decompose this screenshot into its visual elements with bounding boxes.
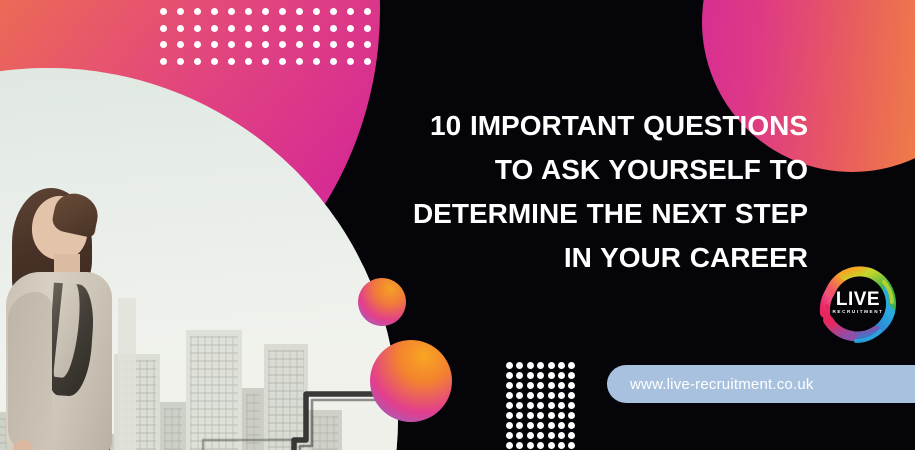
small-gradient-bubble xyxy=(358,278,406,326)
grid-dot xyxy=(527,412,534,419)
grid-dot xyxy=(558,422,565,429)
grid-dot xyxy=(558,392,565,399)
grid-dot xyxy=(527,372,534,379)
logo-wordmark: LIVE xyxy=(812,290,904,309)
grid-dot xyxy=(558,362,565,369)
grid-dot xyxy=(516,422,523,429)
businesswoman-figure xyxy=(0,196,178,450)
grid-dot xyxy=(537,412,544,419)
grid-dot xyxy=(245,8,252,15)
grid-dot xyxy=(516,362,523,369)
grid-dot xyxy=(347,58,354,65)
grid-dot xyxy=(347,25,354,32)
grid-dot xyxy=(211,58,218,65)
grid-dot xyxy=(364,41,371,48)
grid-dot xyxy=(506,422,513,429)
grid-dot xyxy=(527,422,534,429)
grid-dot xyxy=(548,392,555,399)
grid-dot xyxy=(160,58,167,65)
grid-dot xyxy=(296,58,303,65)
grid-dot xyxy=(516,442,523,449)
grid-dot xyxy=(177,58,184,65)
grid-dot xyxy=(548,432,555,439)
banner-canvas: 10 IMPORTANT QUESTIONSTO ASK YOURSELF TO… xyxy=(0,0,915,450)
grid-dot xyxy=(537,422,544,429)
grid-dot xyxy=(568,372,575,379)
grid-dot xyxy=(537,432,544,439)
grid-dot xyxy=(506,382,513,389)
grid-dot xyxy=(177,41,184,48)
grid-dot xyxy=(506,362,513,369)
grid-dot xyxy=(558,412,565,419)
grid-dot xyxy=(506,402,513,409)
grid-dot xyxy=(527,392,534,399)
grid-dot xyxy=(313,8,320,15)
logo-subtitle: RECRUITMENT xyxy=(812,309,904,315)
grid-dot xyxy=(527,362,534,369)
grid-dot xyxy=(296,41,303,48)
grid-dot xyxy=(177,25,184,32)
grid-dot xyxy=(245,25,252,32)
grid-dot xyxy=(537,382,544,389)
grid-dot xyxy=(506,432,513,439)
grid-dot xyxy=(558,432,565,439)
headline-line-3: DETERMINE THE NEXT STEP xyxy=(330,192,808,236)
grid-dot xyxy=(558,442,565,449)
grid-dot xyxy=(548,442,555,449)
grid-dot xyxy=(262,41,269,48)
website-url-text: www.live-recruitment.co.uk xyxy=(630,376,814,393)
grid-dot xyxy=(279,8,286,15)
grid-dot xyxy=(527,442,534,449)
grid-dot xyxy=(330,8,337,15)
grid-dot xyxy=(194,58,201,65)
website-url-pill[interactable]: www.live-recruitment.co.uk xyxy=(607,365,915,403)
grid-dot xyxy=(516,432,523,439)
grid-dot xyxy=(262,8,269,15)
grid-dot xyxy=(211,41,218,48)
grid-dot xyxy=(211,8,218,15)
grid-dot xyxy=(537,442,544,449)
grid-dot xyxy=(330,25,337,32)
grid-dot xyxy=(568,412,575,419)
grid-dot xyxy=(548,422,555,429)
grid-dot xyxy=(537,362,544,369)
grid-dot xyxy=(548,412,555,419)
grid-dot xyxy=(568,392,575,399)
grid-dot xyxy=(160,41,167,48)
grid-dot xyxy=(177,8,184,15)
grid-dot xyxy=(568,402,575,409)
grid-dot xyxy=(211,25,218,32)
grid-dot xyxy=(245,58,252,65)
grid-dot xyxy=(296,25,303,32)
grid-dot xyxy=(364,25,371,32)
grid-dot xyxy=(262,58,269,65)
grid-dot xyxy=(568,432,575,439)
grid-dot xyxy=(548,382,555,389)
grid-dot xyxy=(330,58,337,65)
grid-dot xyxy=(548,402,555,409)
grid-dot xyxy=(160,8,167,15)
headline-line-2: TO ASK YOURSELF TO xyxy=(330,148,808,192)
grid-dot xyxy=(228,8,235,15)
grid-dot xyxy=(516,382,523,389)
grid-dot xyxy=(558,372,565,379)
grid-dot xyxy=(194,41,201,48)
grid-dot xyxy=(516,412,523,419)
page-title: 10 IMPORTANT QUESTIONSTO ASK YOURSELF TO… xyxy=(330,104,808,280)
grid-dot xyxy=(527,382,534,389)
headline-line-4: IN YOUR CAREER xyxy=(330,236,808,280)
grid-dot xyxy=(279,58,286,65)
grid-dot xyxy=(548,362,555,369)
grid-dot xyxy=(194,25,201,32)
dot-grid-top xyxy=(160,8,368,62)
grid-dot xyxy=(228,41,235,48)
grid-dot xyxy=(160,25,167,32)
grid-dot xyxy=(558,382,565,389)
grid-dot xyxy=(537,372,544,379)
grid-dot xyxy=(245,41,252,48)
grid-dot xyxy=(527,432,534,439)
grid-dot xyxy=(228,58,235,65)
grid-dot xyxy=(516,392,523,399)
grid-dot xyxy=(262,25,269,32)
grid-dot xyxy=(279,25,286,32)
grid-dot xyxy=(279,41,286,48)
headline-line-1: 10 IMPORTANT QUESTIONS xyxy=(330,104,808,148)
grid-dot xyxy=(296,8,303,15)
dot-grid-bottom xyxy=(506,362,572,450)
large-gradient-bubble xyxy=(370,340,452,422)
grid-dot xyxy=(347,41,354,48)
grid-dot xyxy=(347,8,354,15)
grid-dot xyxy=(516,372,523,379)
grid-dot xyxy=(364,8,371,15)
grid-dot xyxy=(228,25,235,32)
grid-dot xyxy=(194,8,201,15)
grid-dot xyxy=(506,392,513,399)
grid-dot xyxy=(330,41,337,48)
grid-dot xyxy=(313,58,320,65)
arm xyxy=(8,292,52,450)
brand-logo[interactable]: LIVE RECRUITMENT xyxy=(812,258,904,350)
grid-dot xyxy=(313,25,320,32)
grid-dot xyxy=(568,362,575,369)
grid-dot xyxy=(313,41,320,48)
grid-dot xyxy=(548,372,555,379)
grid-dot xyxy=(527,402,534,409)
grid-dot xyxy=(537,402,544,409)
grid-dot xyxy=(364,58,371,65)
grid-dot xyxy=(568,382,575,389)
grid-dot xyxy=(558,402,565,409)
grid-dot xyxy=(516,402,523,409)
grid-dot xyxy=(506,412,513,419)
grid-dot xyxy=(506,372,513,379)
grid-dot xyxy=(568,422,575,429)
grid-dot xyxy=(568,442,575,449)
grid-dot xyxy=(506,442,513,449)
grid-dot xyxy=(537,392,544,399)
